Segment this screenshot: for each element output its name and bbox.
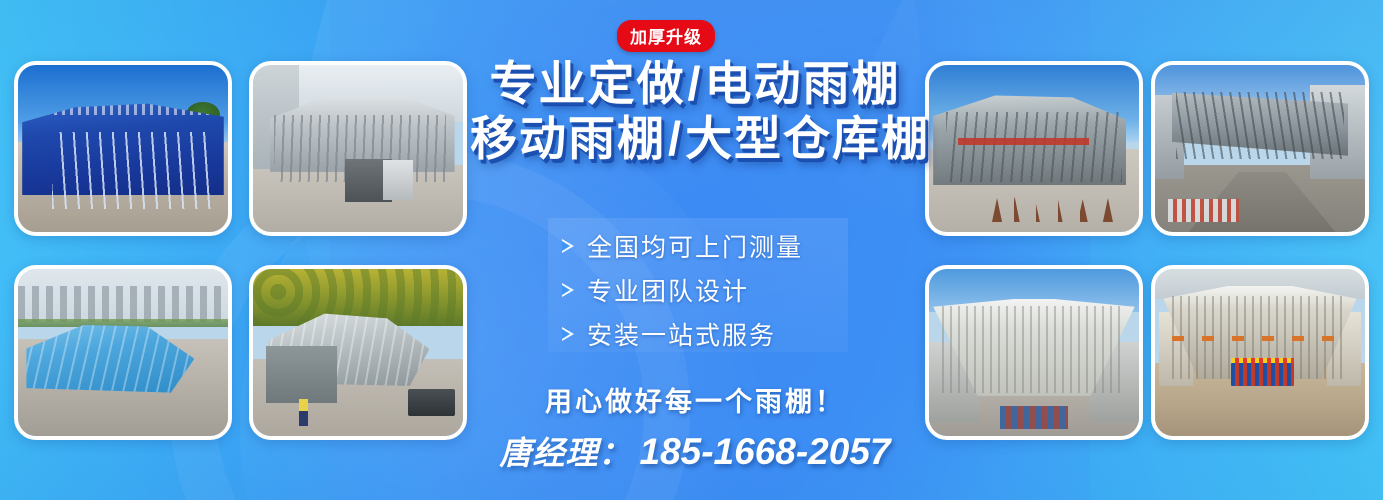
photo-1-scene <box>18 65 228 232</box>
triangle-right-icon <box>562 239 575 254</box>
headline-line-1-separator: / <box>685 57 704 110</box>
promo-banner: 加厚升级 专业定做/电动雨棚 移动雨棚/大型仓库棚 全国均可上门测量 专业团队设… <box>0 0 1383 500</box>
feature-item-3-label: 安装一站式服务 <box>587 316 776 352</box>
photo-5-scene <box>929 65 1139 232</box>
photo-card-1 <box>14 61 232 236</box>
photo-card-6 <box>1151 61 1369 236</box>
photo-3-scene <box>18 269 228 436</box>
photo-2-scene <box>253 65 463 232</box>
center-content: 加厚升级 专业定做/电动雨棚 移动雨棚/大型仓库棚 全国均可上门测量 专业团队设… <box>470 0 920 500</box>
headline-line-1-part-a: 专业定做 <box>489 57 685 110</box>
triangle-right-icon <box>562 283 575 298</box>
triangle-right-icon <box>562 327 575 342</box>
headline-line-1-part-b: 电动雨棚 <box>705 57 901 110</box>
slogan: 用心做好每一个雨棚！ <box>470 380 920 419</box>
feature-item-3: 安装一站式服务 <box>558 312 858 356</box>
headline-line-2-separator: / <box>666 112 685 165</box>
photo-6-scene <box>1155 65 1365 232</box>
feature-list: 全国均可上门测量 专业团队设计 安装一站式服务 <box>558 224 858 356</box>
headline-line-2-part-a: 移动雨棚 <box>470 112 666 165</box>
photo-card-7 <box>925 265 1143 440</box>
photo-card-5 <box>925 61 1143 236</box>
headline-line-1: 专业定做/电动雨棚 <box>470 56 920 111</box>
contact-line: 唐经理：185-1668-2057 <box>470 428 920 474</box>
contact-name: 唐经理： <box>499 435 631 471</box>
photo-8-scene <box>1155 269 1365 436</box>
feature-item-1-label: 全国均可上门测量 <box>587 228 803 264</box>
headline: 专业定做/电动雨棚 移动雨棚/大型仓库棚 <box>470 56 920 166</box>
feature-item-1: 全国均可上门测量 <box>558 224 858 268</box>
photo-4-scene <box>253 269 463 436</box>
photo-7-scene <box>929 269 1139 436</box>
photo-card-3 <box>14 265 232 440</box>
feature-item-2: 专业团队设计 <box>558 268 858 312</box>
photo-card-4 <box>249 265 467 440</box>
contact-phone[interactable]: 185-1668-2057 <box>640 431 891 472</box>
feature-item-2-label: 专业团队设计 <box>587 272 749 308</box>
headline-line-2-part-b: 大型仓库棚 <box>685 112 930 165</box>
photo-card-8 <box>1151 265 1369 440</box>
upgrade-badge: 加厚升级 <box>617 20 715 52</box>
photo-card-2 <box>249 61 467 236</box>
headline-line-2: 移动雨棚/大型仓库棚 <box>470 111 920 166</box>
